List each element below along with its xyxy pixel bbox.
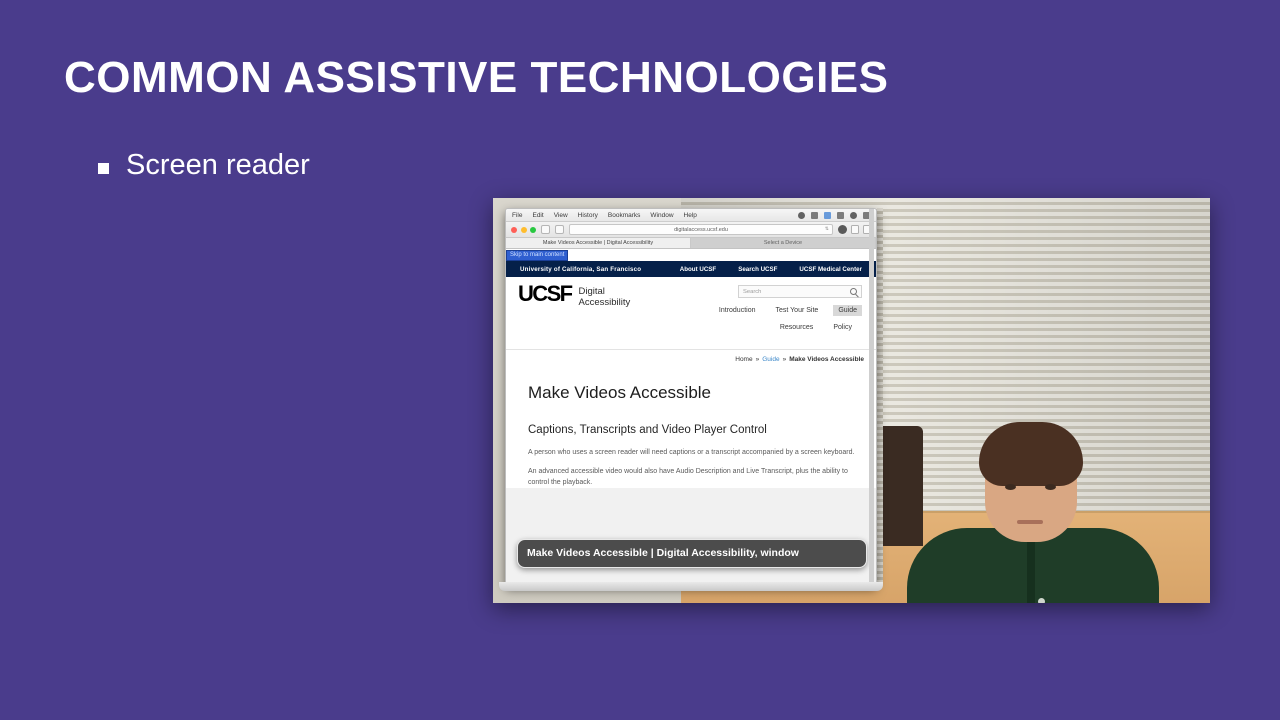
menu-item-help[interactable]: Help <box>684 212 697 219</box>
ucsf-logo[interactable]: UCSF <box>518 285 572 304</box>
content-paragraph-2: An advanced accessible video would also … <box>528 467 858 488</box>
nav-introduction[interactable]: Introduction <box>714 305 761 316</box>
nav-resources[interactable]: Resources <box>775 322 818 333</box>
address-bar[interactable]: digitalaccess.ucsf.edu ⇅ <box>569 224 833 235</box>
breadcrumb-guide[interactable]: Guide <box>762 356 779 363</box>
search-icon[interactable] <box>850 288 857 295</box>
menu-item-history[interactable]: History <box>578 212 598 219</box>
scrollbar[interactable] <box>869 209 874 585</box>
breadcrumb-home[interactable]: Home <box>735 356 752 363</box>
menu-item-file[interactable]: File <box>512 212 522 219</box>
breadcrumb-current: Make Videos Accessible <box>789 356 864 363</box>
share-icon[interactable] <box>851 225 859 234</box>
breadcrumb[interactable]: Home » Guide » Make Videos Accessible <box>506 349 876 369</box>
menu-item-bookmarks[interactable]: Bookmarks <box>608 212 641 219</box>
tab-make-videos-accessible[interactable]: Make Videos Accessible | Digital Accessi… <box>506 238 691 248</box>
nav-policy[interactable]: Policy <box>828 322 857 333</box>
search-placeholder: Search <box>743 289 761 295</box>
nav-test-your-site[interactable]: Test Your Site <box>771 305 824 316</box>
menu-item-edit[interactable]: Edit <box>532 212 543 219</box>
link-search-ucsf[interactable]: Search UCSF <box>738 266 777 273</box>
bluetooth-icon[interactable] <box>798 212 805 219</box>
breadcrumb-separator: » <box>756 356 760 363</box>
back-button[interactable] <box>541 225 550 234</box>
browser-toolbar[interactable]: digitalaccess.ucsf.edu ⇅ <box>506 222 876 238</box>
main-navigation-row2: Resources Policy <box>652 320 862 335</box>
uc-brand-label: University of California, San Francisco <box>520 266 641 273</box>
browser-window[interactable]: File Edit View History Bookmarks Window … <box>505 208 877 586</box>
reload-icon[interactable]: ⇅ <box>825 227 829 232</box>
page-content: Make Videos Accessible Captions, Transcr… <box>506 369 876 488</box>
skip-to-main-content-link[interactable]: Skip to main content <box>507 251 567 260</box>
main-navigation[interactable]: Introduction Test Your Site Guide Resour… <box>652 305 862 335</box>
window-controls[interactable] <box>511 227 536 233</box>
square-bullet-icon <box>98 163 109 174</box>
link-ucsf-medical-center[interactable]: UCSF Medical Center <box>799 266 862 273</box>
site-name-line1: Digital <box>579 286 605 297</box>
toolbar-right-icons <box>838 225 871 234</box>
zoom-icon[interactable] <box>530 227 536 233</box>
content-subheading: Captions, Transcripts and Video Player C… <box>528 423 858 439</box>
skip-link-row: Skip to main content <box>506 249 876 261</box>
shirt-button <box>1038 598 1045 603</box>
menu-item-window[interactable]: Window <box>650 212 673 219</box>
content-paragraph-1: A person who uses a screen reader will n… <box>528 448 858 459</box>
url-text: digitalaccess.ucsf.edu <box>674 227 728 233</box>
content-heading: Make Videos Accessible <box>528 383 858 403</box>
link-about-ucsf[interactable]: About UCSF <box>680 266 716 273</box>
list-item: Screen reader <box>98 148 310 183</box>
person-mouth <box>1017 520 1043 524</box>
menu-item-view[interactable]: View <box>554 212 568 219</box>
site-header: UCSF Digital Accessibility Search Introd… <box>506 277 876 349</box>
video-player[interactable]: File Edit View History Bookmarks Window … <box>493 198 1210 603</box>
search-input[interactable]: Search <box>738 285 862 298</box>
uc-system-bar[interactable]: University of California, San Francisco … <box>506 261 876 277</box>
sidebar-icon[interactable] <box>555 225 564 234</box>
wifi-icon[interactable] <box>824 212 831 219</box>
site-name-line2: Accessibility <box>579 297 631 308</box>
shirt-placket <box>1027 538 1035 603</box>
nav-guide[interactable]: Guide <box>833 305 862 316</box>
person-hair <box>979 422 1083 486</box>
laptop-base <box>499 582 883 591</box>
close-icon[interactable] <box>511 227 517 233</box>
person-eye <box>1005 484 1016 490</box>
bullet-label: Screen reader <box>126 148 310 183</box>
breadcrumb-separator: » <box>783 356 787 363</box>
tab-select-a-device[interactable]: Select a Device <box>691 238 876 248</box>
monitor-edge <box>877 208 883 586</box>
voiceover-caption-panel: Make Videos Accessible | Digital Accessi… <box>517 539 867 568</box>
menu-bar-status-icons <box>798 212 870 219</box>
clock-icon[interactable] <box>850 212 857 219</box>
person-eye <box>1045 484 1056 490</box>
uc-bar-links: About UCSF Search UCSF UCSF Medical Cent… <box>680 266 862 273</box>
volume-icon[interactable] <box>811 212 818 219</box>
privacy-icon[interactable] <box>838 225 847 234</box>
mac-menu-bar[interactable]: File Edit View History Bookmarks Window … <box>506 209 876 222</box>
minimize-icon[interactable] <box>521 227 527 233</box>
site-name: Digital Accessibility <box>579 286 631 308</box>
tab-bar[interactable]: Make Videos Accessible | Digital Accessi… <box>506 238 876 249</box>
page-title: COMMON ASSISTIVE TECHNOLOGIES <box>64 54 888 102</box>
battery-icon[interactable] <box>837 212 844 219</box>
